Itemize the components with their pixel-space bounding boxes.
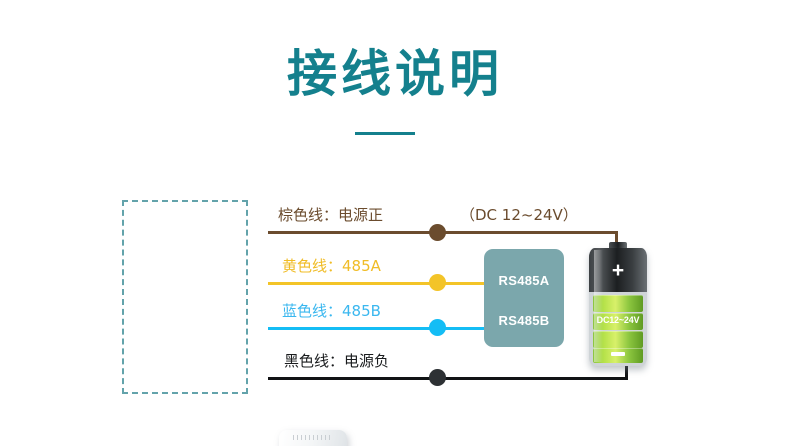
wire-label-brown: 棕色线：电源正: [278, 206, 383, 224]
device-photo-frame: [122, 200, 248, 394]
wire-label-black: 黑色线：电源负: [284, 352, 389, 370]
rs485-module: RS485A RS485B: [484, 249, 564, 347]
title-underline: [355, 132, 415, 135]
wiring-instruction-page: 接线说明 棕色线：电源正 （DC 12~24V） 黄色线：485A 蓝色线：48…: [0, 0, 790, 446]
wire-line-blue: [268, 327, 500, 330]
battery-image: + DC12~24V: [589, 248, 647, 370]
rs485-port-a-label: RS485A: [484, 273, 564, 288]
connector-dot-brown: [429, 224, 446, 241]
battery-plus-symbol: +: [589, 261, 647, 280]
wire-label-blue: 蓝色线：485B: [282, 302, 381, 320]
page-title: 接线说明: [0, 44, 790, 104]
connector-dot-blue: [429, 319, 446, 336]
battery-voltage-label: DC12~24V: [589, 315, 647, 326]
wall-mount-sensor-image: [279, 430, 347, 446]
rs485-port-b-label: RS485B: [484, 313, 564, 328]
wire-line-yellow: [268, 282, 500, 285]
connector-dot-yellow: [429, 274, 446, 291]
battery-shell: + DC12~24V: [589, 248, 647, 366]
battery-segment-3: [593, 331, 643, 348]
wire-label-yellow: 黄色线：485A: [282, 257, 381, 275]
sensor-top-slots: [293, 435, 333, 440]
connector-dot-black: [429, 369, 446, 386]
battery-minus-symbol: [611, 352, 625, 356]
wire-note-voltage: （DC 12~24V）: [460, 206, 578, 224]
battery-segment-1: [593, 295, 643, 312]
wire-line-black: [268, 377, 628, 380]
